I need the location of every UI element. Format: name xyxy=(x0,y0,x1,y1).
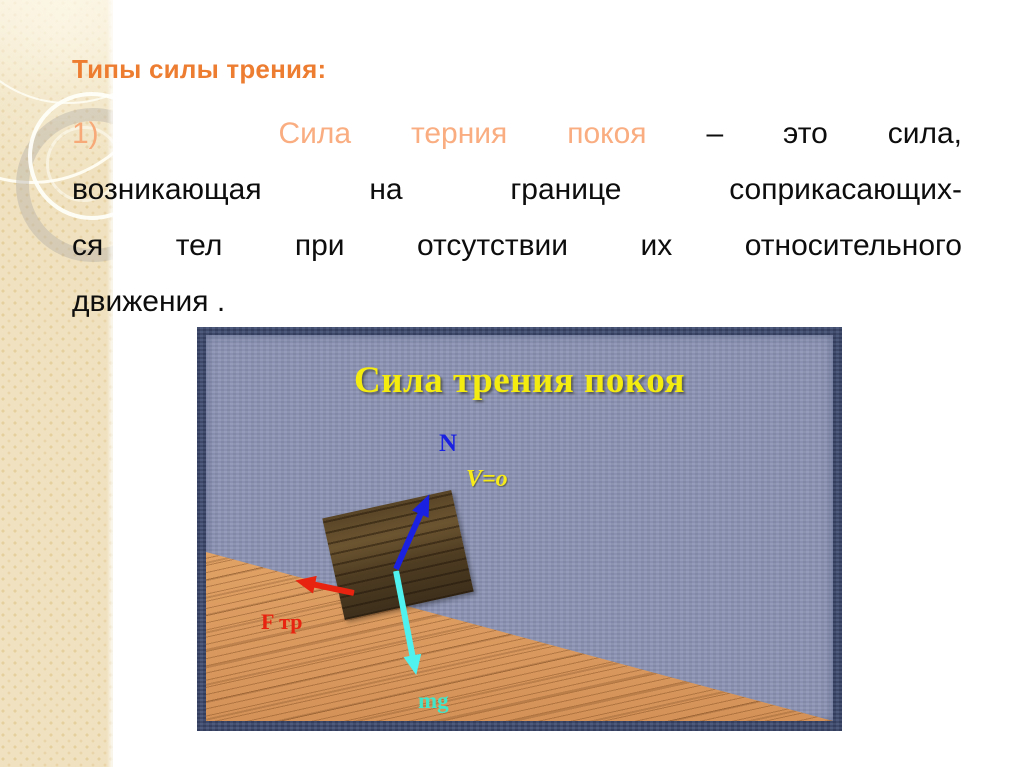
normal-force-label: N xyxy=(439,430,457,458)
arrow-head xyxy=(404,654,425,677)
arrow-head xyxy=(293,572,316,594)
body-line-3: ся тел при отсутствии их относительного xyxy=(72,218,962,274)
friction-force-label: F тр xyxy=(261,609,302,635)
body-line-1: 1) Сила терния покоя – это сила, xyxy=(72,106,962,162)
velocity-label: V=o xyxy=(466,466,508,493)
slide-canvas: Типы силы трения: 1) Сила терния покоя –… xyxy=(0,0,1024,767)
body-line-4: движения . xyxy=(72,274,962,330)
body-line-2: возникающая на границе соприкасающих- xyxy=(72,162,962,218)
weight-force-label: mg xyxy=(418,688,449,714)
highlighted-term: Сила терния покоя xyxy=(278,117,646,150)
inclined-plane-ramp xyxy=(206,461,833,721)
figure-title: Сила трения покоя xyxy=(206,359,833,402)
body-line-1-rest: – это сила, xyxy=(647,117,962,150)
slide-content: Типы силы трения: 1) Сила терния покоя –… xyxy=(0,0,1024,767)
list-marker: 1) xyxy=(72,117,99,150)
figure-inner-canvas: Сила трения покоя N V=o F xyxy=(206,335,833,721)
slide-title: Типы силы трения: xyxy=(72,54,952,85)
physics-diagram-figure: Сила трения покоя N V=o F xyxy=(197,327,842,731)
slide-body-text: 1) Сила терния покоя – это сила, возника… xyxy=(72,106,962,330)
